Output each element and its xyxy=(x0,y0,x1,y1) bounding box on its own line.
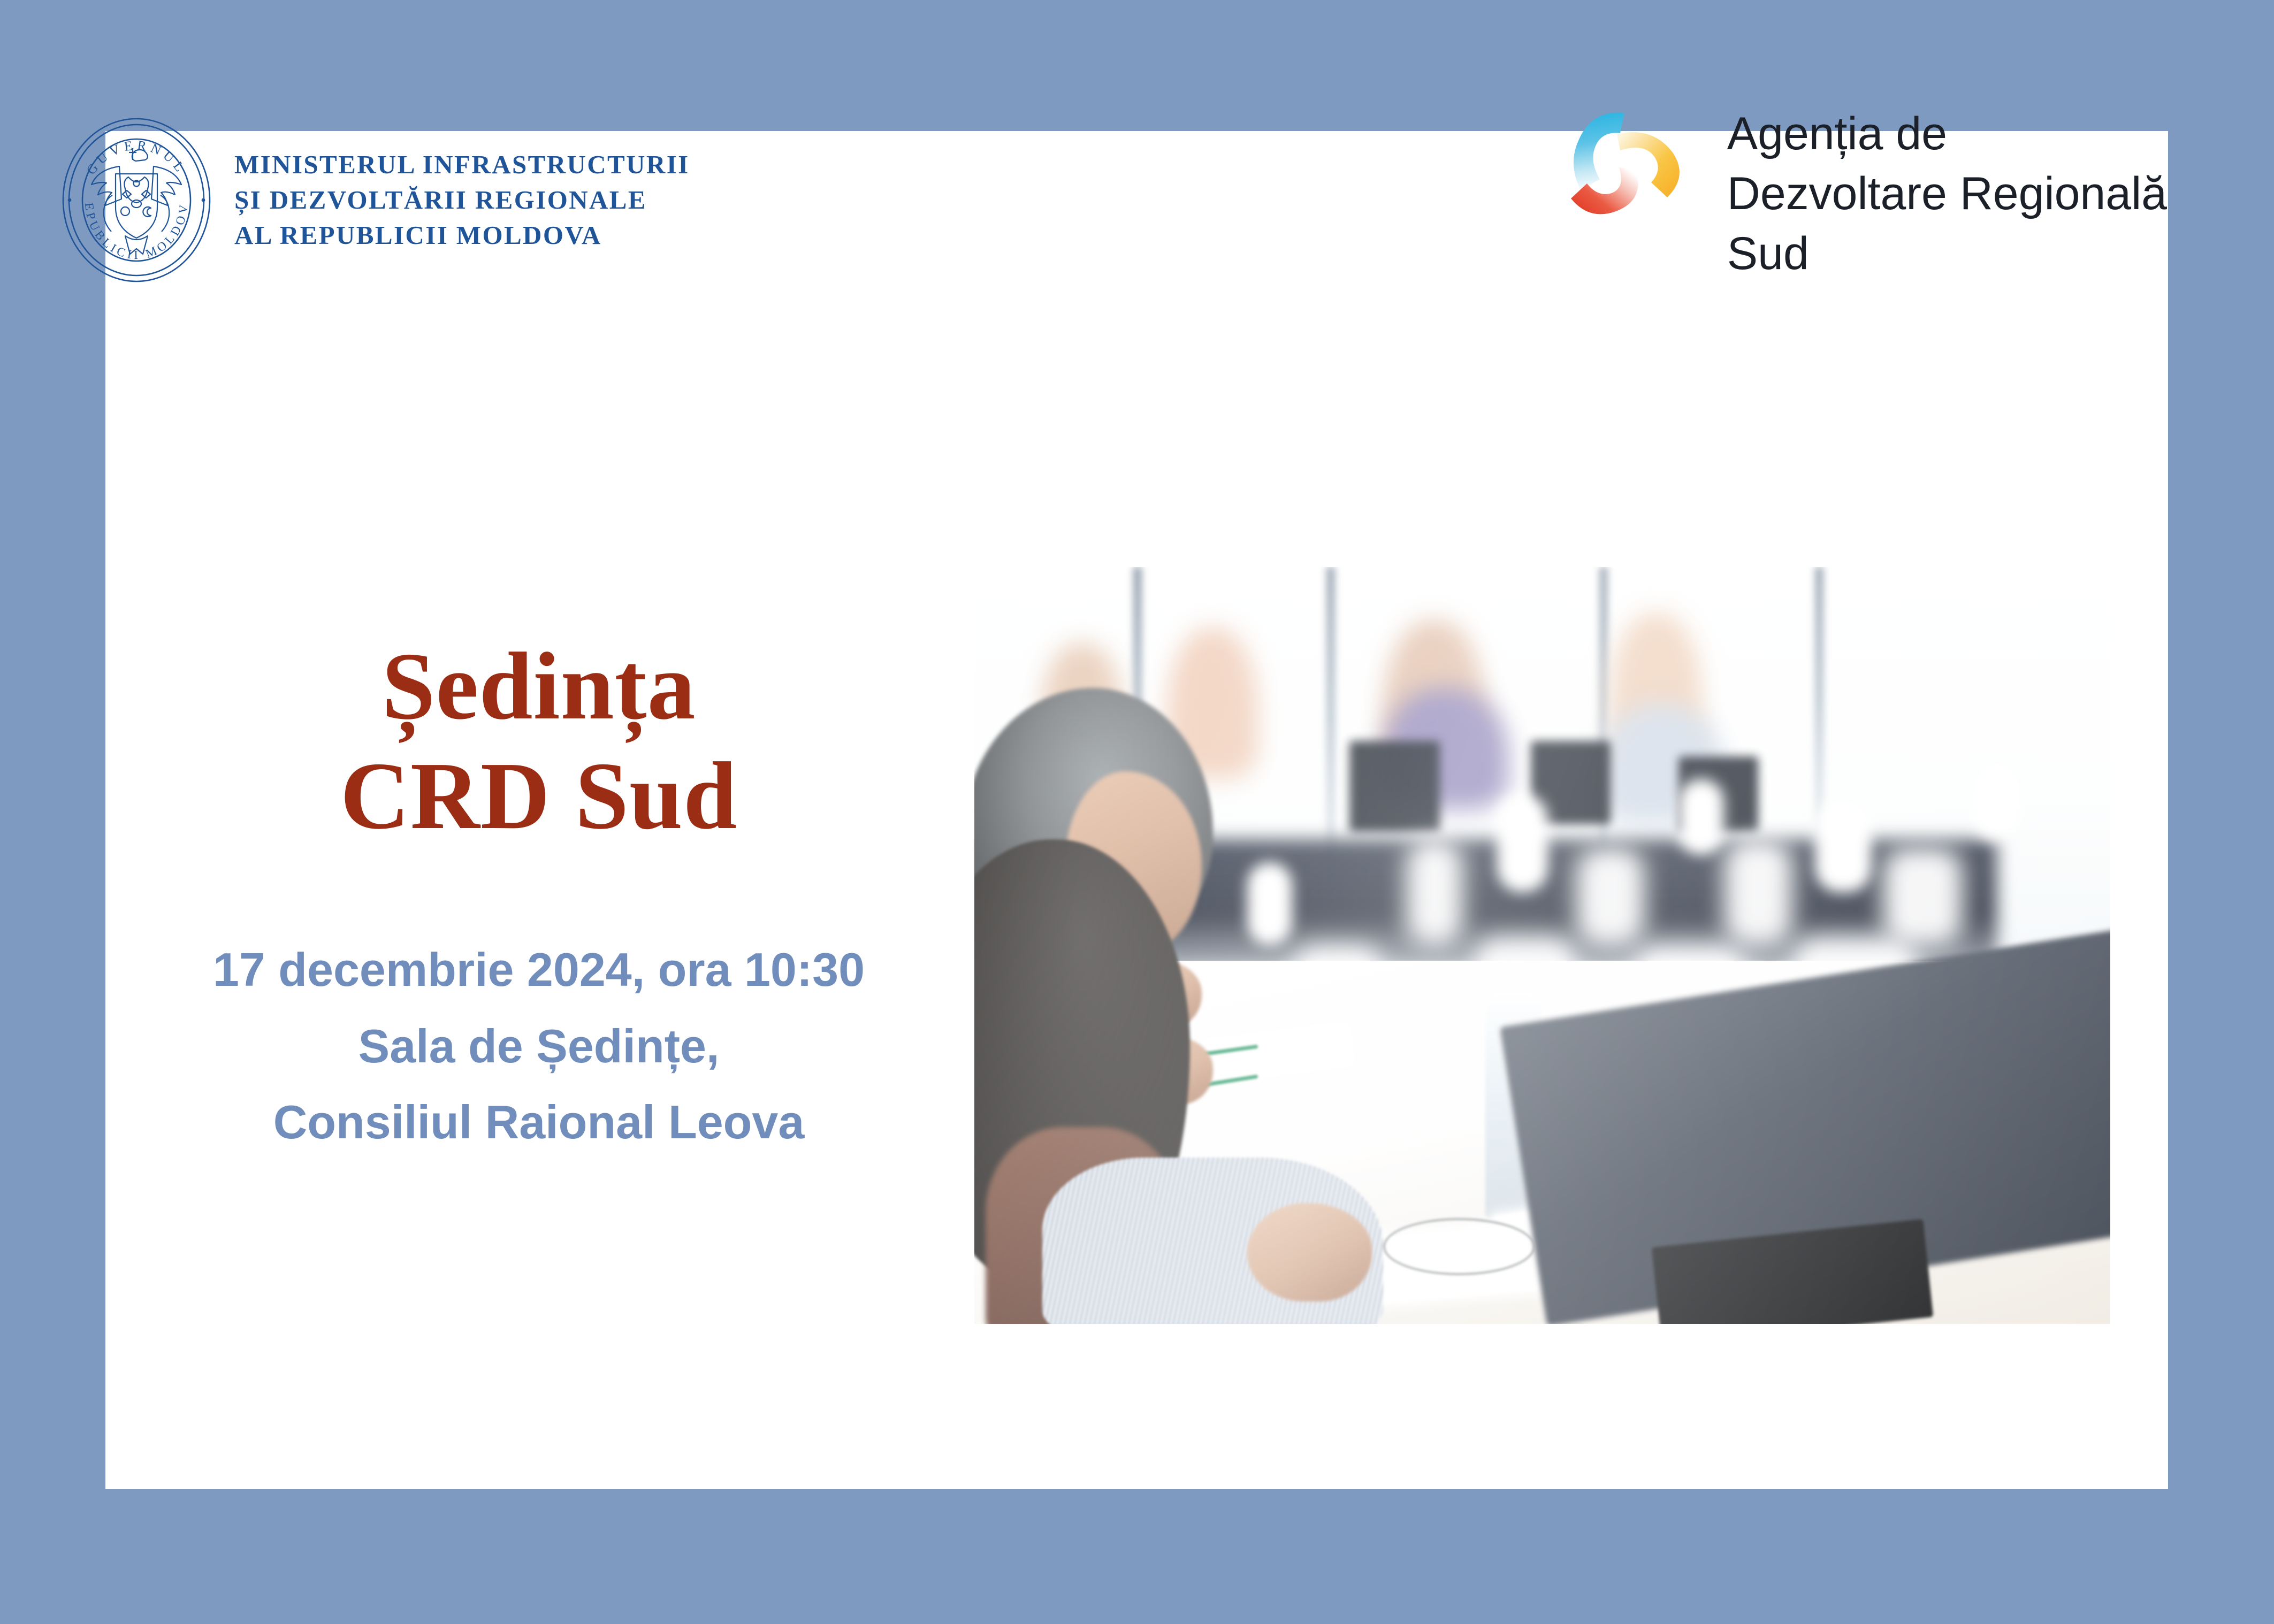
adr-sud-swirl-logo-icon xyxy=(1561,101,1696,236)
photo-bokeh xyxy=(1247,862,1293,946)
moldova-government-seal-icon: GUVERNUL REPUBLICII MOLDOVA xyxy=(59,115,214,285)
photo-eyeglasses xyxy=(1383,1218,1535,1275)
event-title: Ședința CRD Sud xyxy=(105,631,972,851)
photo-bokeh xyxy=(1815,802,1872,893)
ministry-line-1: MINISTERUL INFRASTRUCTURII xyxy=(234,147,690,182)
photo-bokeh xyxy=(1576,847,1644,946)
ministry-lockup: GUVERNUL REPUBLICII MOLDOVA xyxy=(59,115,690,285)
meeting-room-photo xyxy=(974,567,2110,1324)
agency-line-1: Agenția de xyxy=(1727,104,2167,164)
photo-background-monitor xyxy=(1349,741,1440,832)
agency-lockup: Agenția de Dezvoltare Regională Sud xyxy=(1561,104,2167,284)
event-details: Ședința CRD Sud 17 decembrie 2024, ora 1… xyxy=(105,631,972,1161)
svg-text:GUVERNUL: GUVERNUL xyxy=(84,138,189,177)
photo-bokeh xyxy=(1724,839,1792,945)
ministry-name: MINISTERUL INFRASTRUCTURII ȘI DEZVOLTĂRI… xyxy=(234,147,690,252)
photo-hand xyxy=(1247,1203,1372,1301)
event-title-line-2: CRD Sud xyxy=(105,741,972,851)
agency-line-3: Sud xyxy=(1727,224,2167,284)
photo-bokeh xyxy=(1974,764,2019,840)
event-location: Consiliul Raional Leova xyxy=(105,1084,972,1161)
photo-bokeh xyxy=(1883,847,1963,946)
event-venue: Sala de Ședințe, xyxy=(105,1008,972,1085)
photo-bokeh xyxy=(1497,794,1548,893)
photo-bokeh xyxy=(1406,839,1463,945)
photo-bokeh xyxy=(1678,779,1724,855)
agency-name: Agenția de Dezvoltare Regională Sud xyxy=(1727,104,2167,284)
poster-canvas: GUVERNUL REPUBLICII MOLDOVA xyxy=(0,0,2274,1624)
event-title-line-1: Ședința xyxy=(105,631,972,741)
event-datetime: 17 decembrie 2024, ora 10:30 xyxy=(105,932,972,1008)
agency-line-2: Dezvoltare Regională xyxy=(1727,164,2167,224)
ministry-line-3: AL REPUBLICII MOLDOVA xyxy=(234,218,690,253)
ministry-line-2: ȘI DEZVOLTĂRII REGIONALE xyxy=(234,182,690,218)
event-meta: 17 decembrie 2024, ora 10:30 Sala de Șed… xyxy=(105,932,972,1161)
